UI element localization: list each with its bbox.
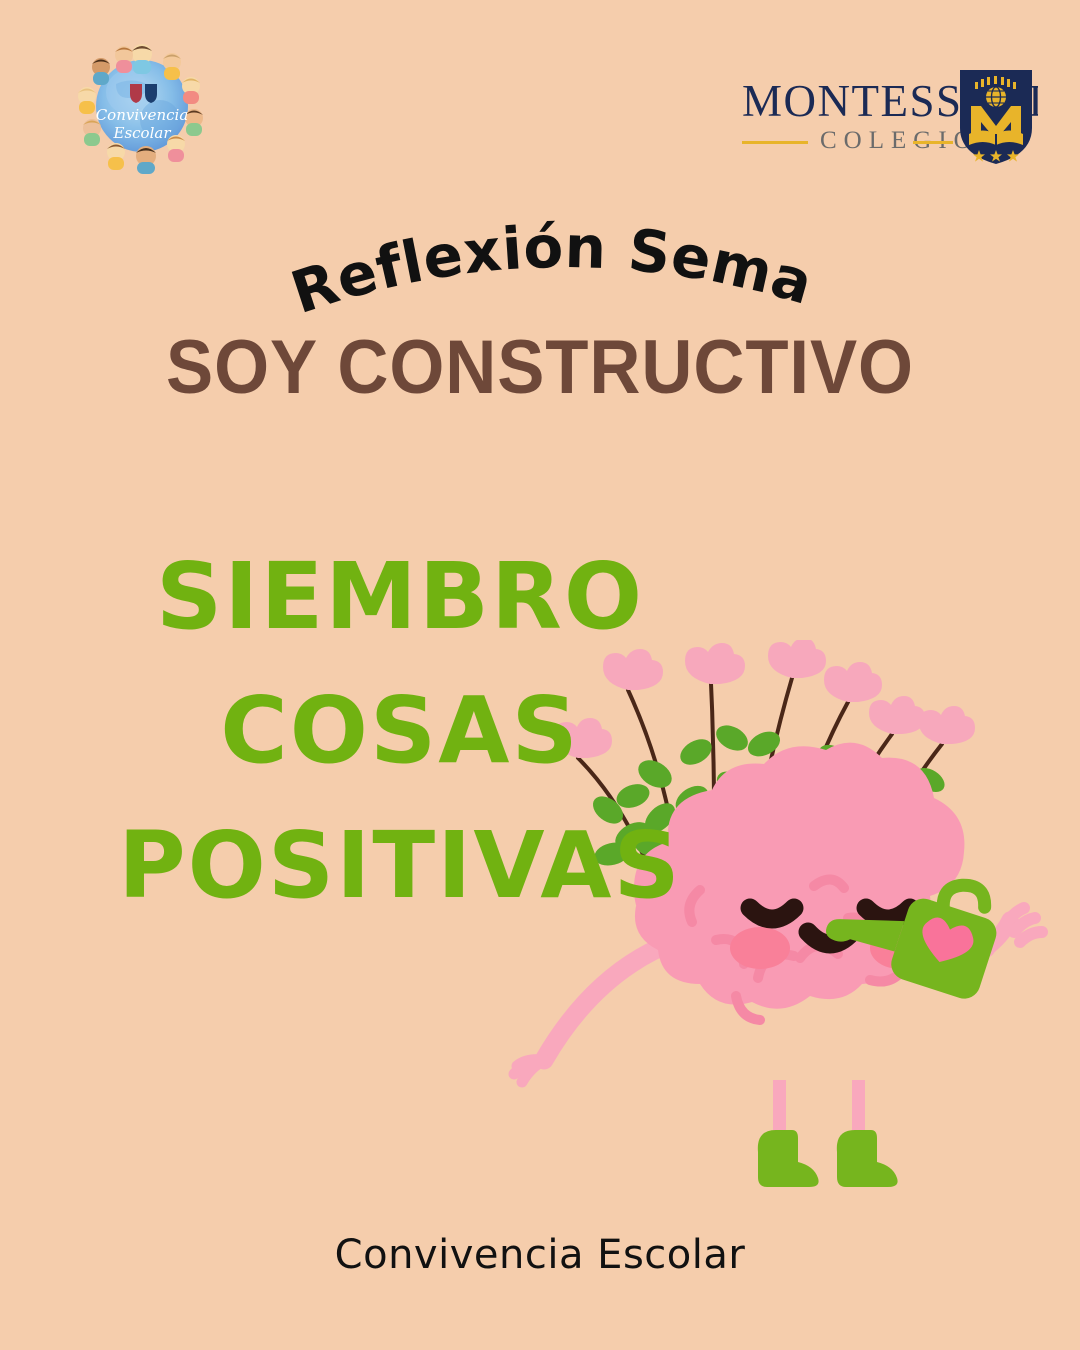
left-boot	[758, 1130, 819, 1187]
convivencia-script-line1: Convivencia	[96, 106, 189, 124]
gold-rule-right	[913, 141, 953, 144]
poster-canvas: Convivencia Escolar MONTESSORI COLEGIO	[0, 0, 1080, 1350]
message-block: SIEMBRO COSAS POSITIVAS	[40, 530, 760, 933]
page-title: SOY CONSTRUCTIVO	[38, 330, 1042, 406]
brain-left-arm	[514, 940, 678, 1082]
convivencia-globe-icon: Convivencia Escolar	[72, 34, 212, 174]
montessori-crest-icon	[960, 70, 1032, 164]
right-eye	[866, 908, 910, 919]
message-line-2: COSAS	[40, 664, 760, 798]
subtitle-text: Reflexión Semanal	[0, 196, 820, 326]
montessori-colegio-logo: MONTESSORI COLEGIO	[738, 62, 1038, 170]
gold-rule-left	[742, 141, 808, 144]
message-line-1: SIEMBRO	[40, 530, 760, 664]
brain-legs	[758, 1080, 898, 1187]
montessori-logo-mark: MONTESSORI COLEGIO	[738, 62, 1038, 170]
colegio-wordmark: COLEGIO	[820, 127, 979, 154]
convivencia-escolar-logo: Convivencia Escolar	[72, 34, 212, 174]
subtitle-arch: Reflexión Semanal	[0, 196, 1080, 326]
right-boot	[837, 1130, 898, 1187]
left-blush	[730, 927, 790, 969]
convivencia-script-line2: Escolar	[113, 124, 172, 142]
message-line-3: POSITIVAS	[40, 799, 760, 933]
